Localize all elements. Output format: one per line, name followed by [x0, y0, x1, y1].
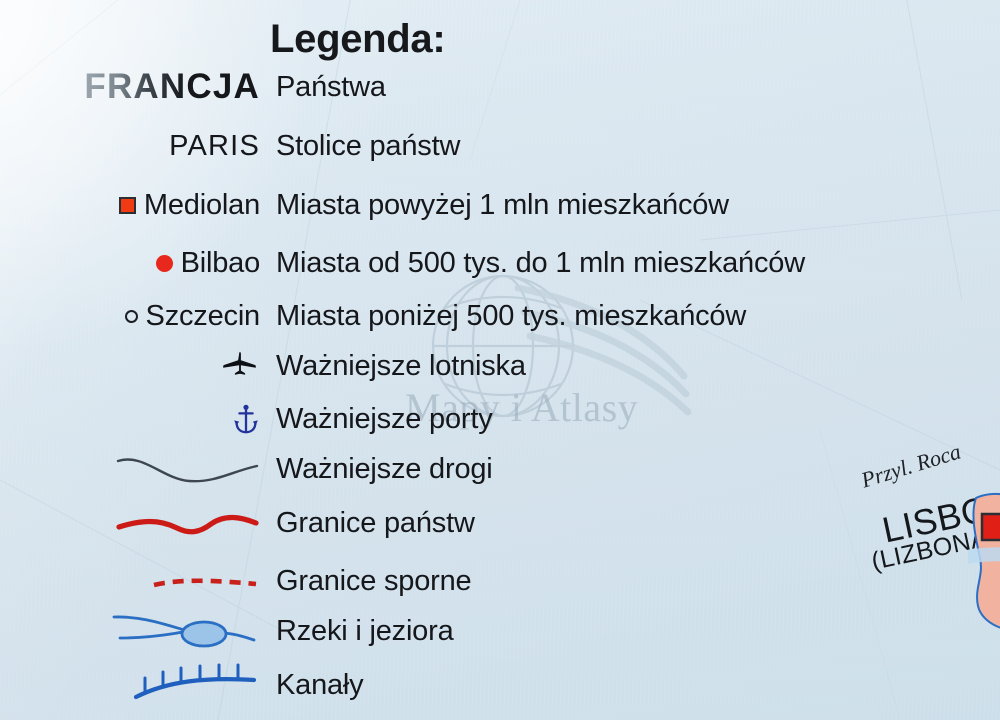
red-square-marker-icon	[119, 197, 136, 214]
legend-row-canals: Kanały	[0, 662, 920, 708]
city-small-sample-label: Szczecin	[146, 300, 260, 333]
red-filled-circle-marker-icon	[156, 255, 173, 272]
red-wavy-line-icon	[115, 503, 260, 543]
legend-row-disputed-borders: Granice sporne	[0, 558, 920, 604]
legend-sample-capital: PARIS	[0, 123, 262, 169]
legend-sample-road	[0, 446, 262, 492]
legend-description-countries: Państwa	[262, 71, 920, 104]
legend-sample-city-medium: Bilbao	[0, 240, 262, 286]
country-name-sample-label: FRANCJA	[84, 67, 260, 107]
red-dashed-line-icon	[150, 564, 260, 598]
legend-sample-canal	[0, 662, 262, 708]
legend-description-airports: Ważniejsze lotniska	[262, 350, 920, 383]
legend-row-capitals: PARIS Stolice państw	[0, 123, 920, 169]
legend-description-roads: Ważniejsze drogi	[262, 453, 920, 486]
legend-sample-city-large: Mediolan	[0, 182, 262, 228]
legend-sample-border	[0, 500, 262, 546]
legend-description-rivers-lakes: Rzeki i jeziora	[262, 615, 920, 648]
airplane-icon	[220, 351, 260, 381]
hollow-circle-marker-icon	[125, 310, 138, 323]
legend-title: Legenda:	[270, 17, 445, 62]
legend-row-rivers-lakes: Rzeki i jeziora	[0, 608, 920, 654]
legend-row-airports: Ważniejsze lotniska	[0, 343, 920, 389]
legend-sample-port	[0, 396, 262, 442]
city-large-sample-label: Mediolan	[144, 189, 260, 222]
blue-canal-hatched-line-icon	[130, 662, 260, 708]
legend-description-cities-500k-1mln: Miasta od 500 tys. do 1 mln mieszkańców	[262, 247, 920, 280]
legend-description-ports: Ważniejsze porty	[262, 403, 920, 436]
legend-row-ports: Ważniejsze porty	[0, 396, 920, 442]
legend-sample-airport	[0, 343, 262, 389]
legend-row-roads: Ważniejsze drogi	[0, 446, 920, 492]
legend-row-cities-under-500k: Szczecin Miasta poniżej 500 tys. mieszka…	[0, 293, 920, 339]
legend-description-cities-under-500k: Miasta poniżej 500 tys. mieszkańców	[262, 300, 920, 333]
legend-sample-river-lake	[0, 608, 262, 654]
legend-sample-city-small: Szczecin	[0, 293, 262, 339]
city-medium-sample-label: Bilbao	[181, 247, 260, 280]
legend-description-canals: Kanały	[262, 669, 920, 702]
legend-description-disputed-borders: Granice sporne	[262, 565, 920, 598]
legend-sample-disputed-border	[0, 558, 262, 604]
blue-river-lake-icon	[108, 607, 260, 655]
legend-description-capitals: Stolice państw	[262, 130, 920, 163]
legend-row-borders: Granice państw	[0, 500, 920, 546]
legend-description-cities-over-1mln: Miasta powyżej 1 mln mieszkańców	[262, 189, 920, 222]
gray-wavy-line-icon	[115, 449, 260, 489]
map-legend-page: Mapy i Atlasy Legenda: FRANCJA Państwa P…	[0, 0, 1000, 720]
legend-row-cities-over-1mln: Mediolan Miasta powyżej 1 mln mieszkańcó…	[0, 182, 920, 228]
legend-description-borders: Granice państw	[262, 507, 920, 540]
capital-name-sample-label: PARIS	[169, 130, 260, 163]
anchor-icon	[232, 403, 260, 435]
legend-row-countries: FRANCJA Państwa	[0, 64, 920, 110]
legend-sample-country: FRANCJA	[0, 64, 262, 110]
legend-row-cities-500k-1mln: Bilbao Miasta od 500 tys. do 1 mln miesz…	[0, 240, 920, 286]
